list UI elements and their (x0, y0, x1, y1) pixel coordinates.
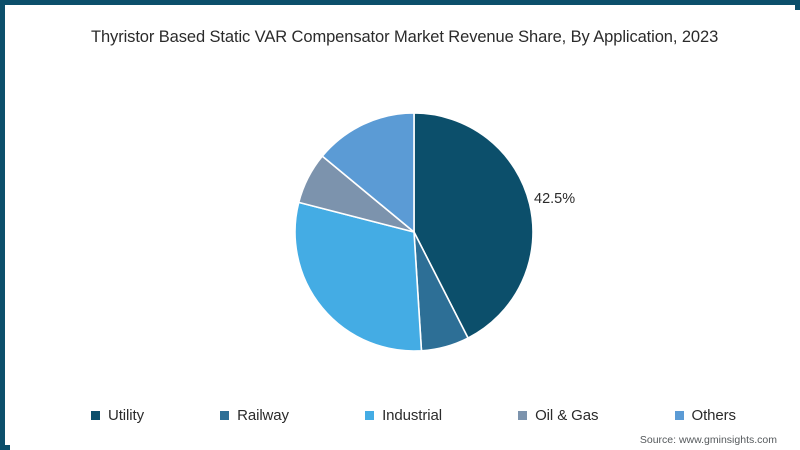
legend-item-industrial[interactable]: Industrial (365, 407, 442, 424)
legend-label-railway: Railway (237, 407, 289, 424)
chart-inner-panel: Thyristor Based Static VAR Compensator M… (10, 10, 800, 450)
pie-slice-group (295, 113, 533, 351)
legend-label-oil-and-gas: Oil & Gas (535, 407, 598, 424)
chart-legend: Utility Railway Industrial Oil & Gas Oth… (91, 403, 736, 427)
chart-title: Thyristor Based Static VAR Compensator M… (91, 28, 751, 47)
legend-item-railway[interactable]: Railway (220, 407, 289, 424)
pie-chart (289, 107, 539, 357)
legend-item-oil-and-gas[interactable]: Oil & Gas (518, 407, 598, 424)
legend-swatch-icon-industrial (365, 411, 374, 420)
legend-item-others[interactable]: Others (675, 407, 736, 424)
legend-swatch-icon-oil-and-gas (518, 411, 527, 420)
legend-item-utility[interactable]: Utility (91, 407, 144, 424)
source-attribution: Source: www.gminsights.com (640, 434, 777, 446)
legend-label-utility: Utility (108, 407, 144, 424)
pie-chart-svg (289, 107, 539, 357)
legend-swatch-icon-others (675, 411, 684, 420)
pie-data-label-utility: 42.5% (534, 191, 575, 207)
legend-swatch-icon-railway (220, 411, 229, 420)
legend-label-others: Others (692, 407, 736, 424)
chart-frame: Thyristor Based Static VAR Compensator M… (0, 0, 800, 450)
legend-swatch-icon-utility (91, 411, 100, 420)
legend-label-industrial: Industrial (382, 407, 442, 424)
